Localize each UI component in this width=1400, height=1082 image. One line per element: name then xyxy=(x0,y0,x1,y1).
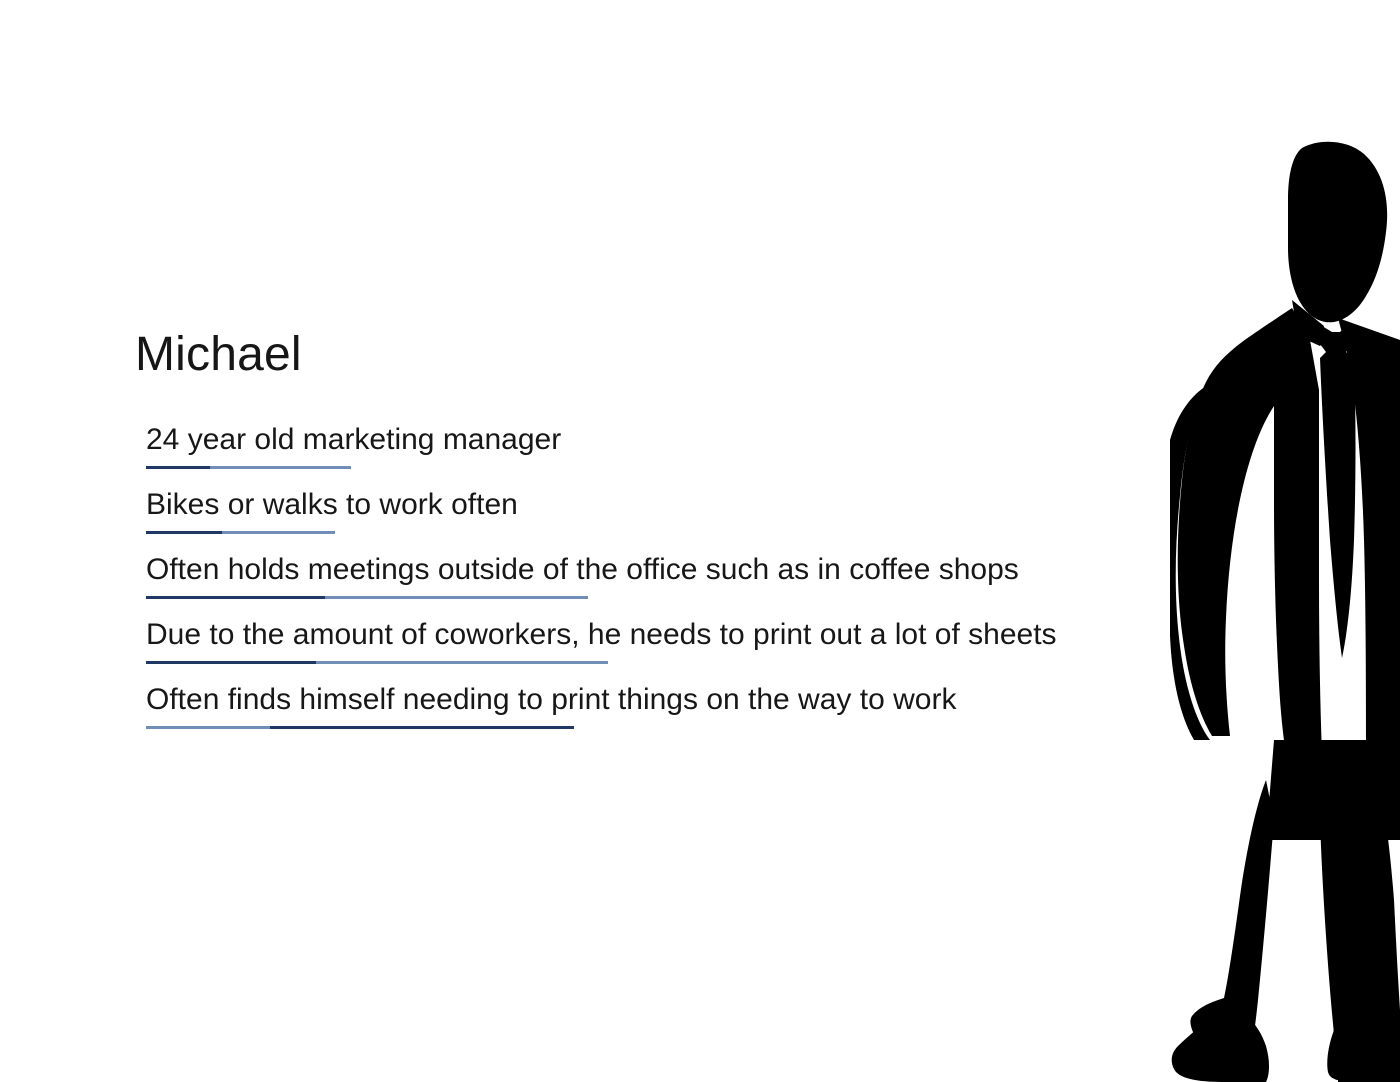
list-item: Due to the amount of coworkers, he needs… xyxy=(146,615,1186,680)
persona-slide: Michael 24 year old marketing manager Bi… xyxy=(0,0,1400,1082)
underline-segment-dark xyxy=(146,661,316,664)
underline-segment-dark xyxy=(146,596,325,599)
bullet-text: Bikes or walks to work often xyxy=(146,488,518,521)
persona-bullet-list: 24 year old marketing manager Bikes or w… xyxy=(146,420,1186,745)
underline-segment-dark xyxy=(146,466,210,469)
underline-segment-dark xyxy=(146,531,222,534)
bullet-text: Often finds himself needing to print thi… xyxy=(146,683,956,716)
list-item: Bikes or walks to work often xyxy=(146,485,1186,550)
underline-segment-dark xyxy=(270,726,574,729)
list-item: 24 year old marketing manager xyxy=(146,420,1186,485)
list-item: Often holds meetings outside of the offi… xyxy=(146,550,1186,615)
bullet-text: Often holds meetings outside of the offi… xyxy=(146,553,1019,586)
page-title: Michael xyxy=(135,330,302,380)
bullet-text: 24 year old marketing manager xyxy=(146,423,561,456)
list-item: Often finds himself needing to print thi… xyxy=(146,680,1186,745)
bullet-text: Due to the amount of coworkers, he needs… xyxy=(146,618,1057,651)
businessman-silhouette-icon xyxy=(1170,140,1400,1082)
